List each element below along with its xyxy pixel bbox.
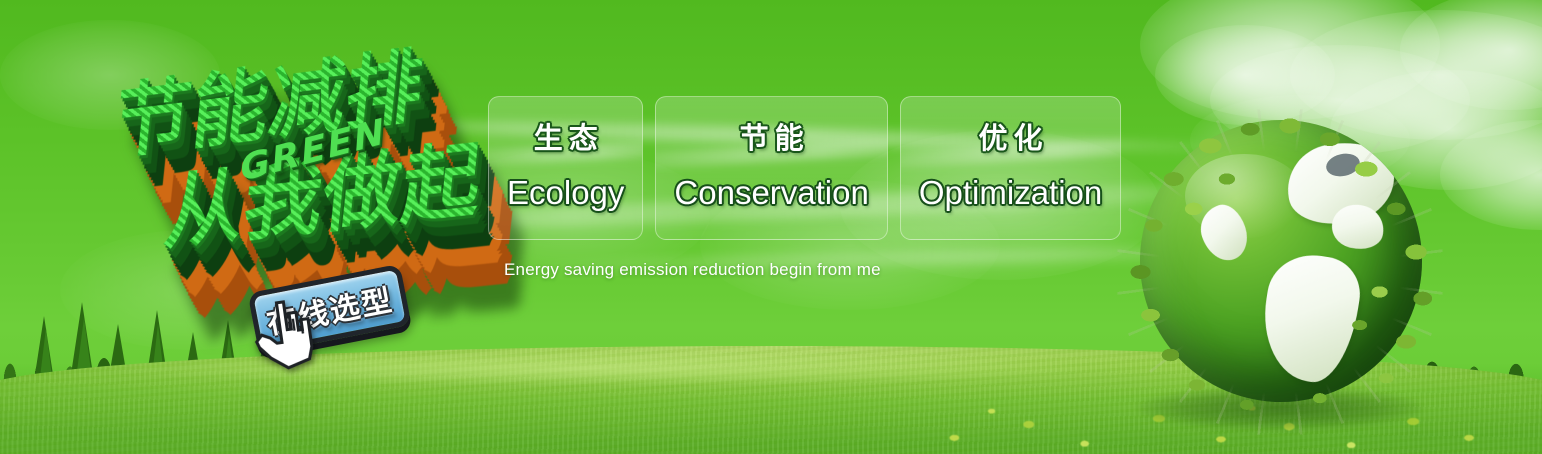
pointing-hand-cursor-icon [249, 296, 320, 374]
banner-tagline: Energy saving emission reduction begin f… [504, 260, 881, 280]
feature-card-cn-label: 节能 [734, 121, 810, 156]
feature-card-conservation[interactable]: 节能 Conservation [655, 96, 887, 240]
feature-card-cn-label: 生态 [528, 121, 604, 156]
continent-south-america [1255, 249, 1366, 388]
eco-banner: 节能减排 从我做起 GREEN 在线选型 生态 Ecology 节能 Conse… [0, 0, 1542, 454]
feature-card-list: 生态 Ecology 节能 Conservation 优化 Optimizati… [488, 96, 1121, 240]
online-selection-cta[interactable]: 在线选型 [252, 272, 422, 358]
feature-card-en-label: Optimization [919, 176, 1102, 209]
cloud-decoration [1400, 0, 1542, 110]
cloud-decoration [1140, 0, 1440, 120]
cloud-decoration [1440, 120, 1542, 230]
feature-card-en-label: Conservation [674, 176, 868, 209]
continent-greenland [1194, 199, 1253, 266]
cloud-decoration [1155, 25, 1335, 125]
globe-sphere [1140, 120, 1422, 402]
feature-card-ecology[interactable]: 生态 Ecology [488, 96, 643, 240]
feature-card-en-label: Ecology [507, 176, 624, 209]
feature-card-optimization[interactable]: 优化 Optimization [900, 96, 1121, 240]
eco-globe [1120, 112, 1440, 432]
headline-3d-title: 节能减排 从我做起 GREEN [100, 38, 490, 268]
feature-card-cn-label: 优化 [973, 121, 1049, 156]
